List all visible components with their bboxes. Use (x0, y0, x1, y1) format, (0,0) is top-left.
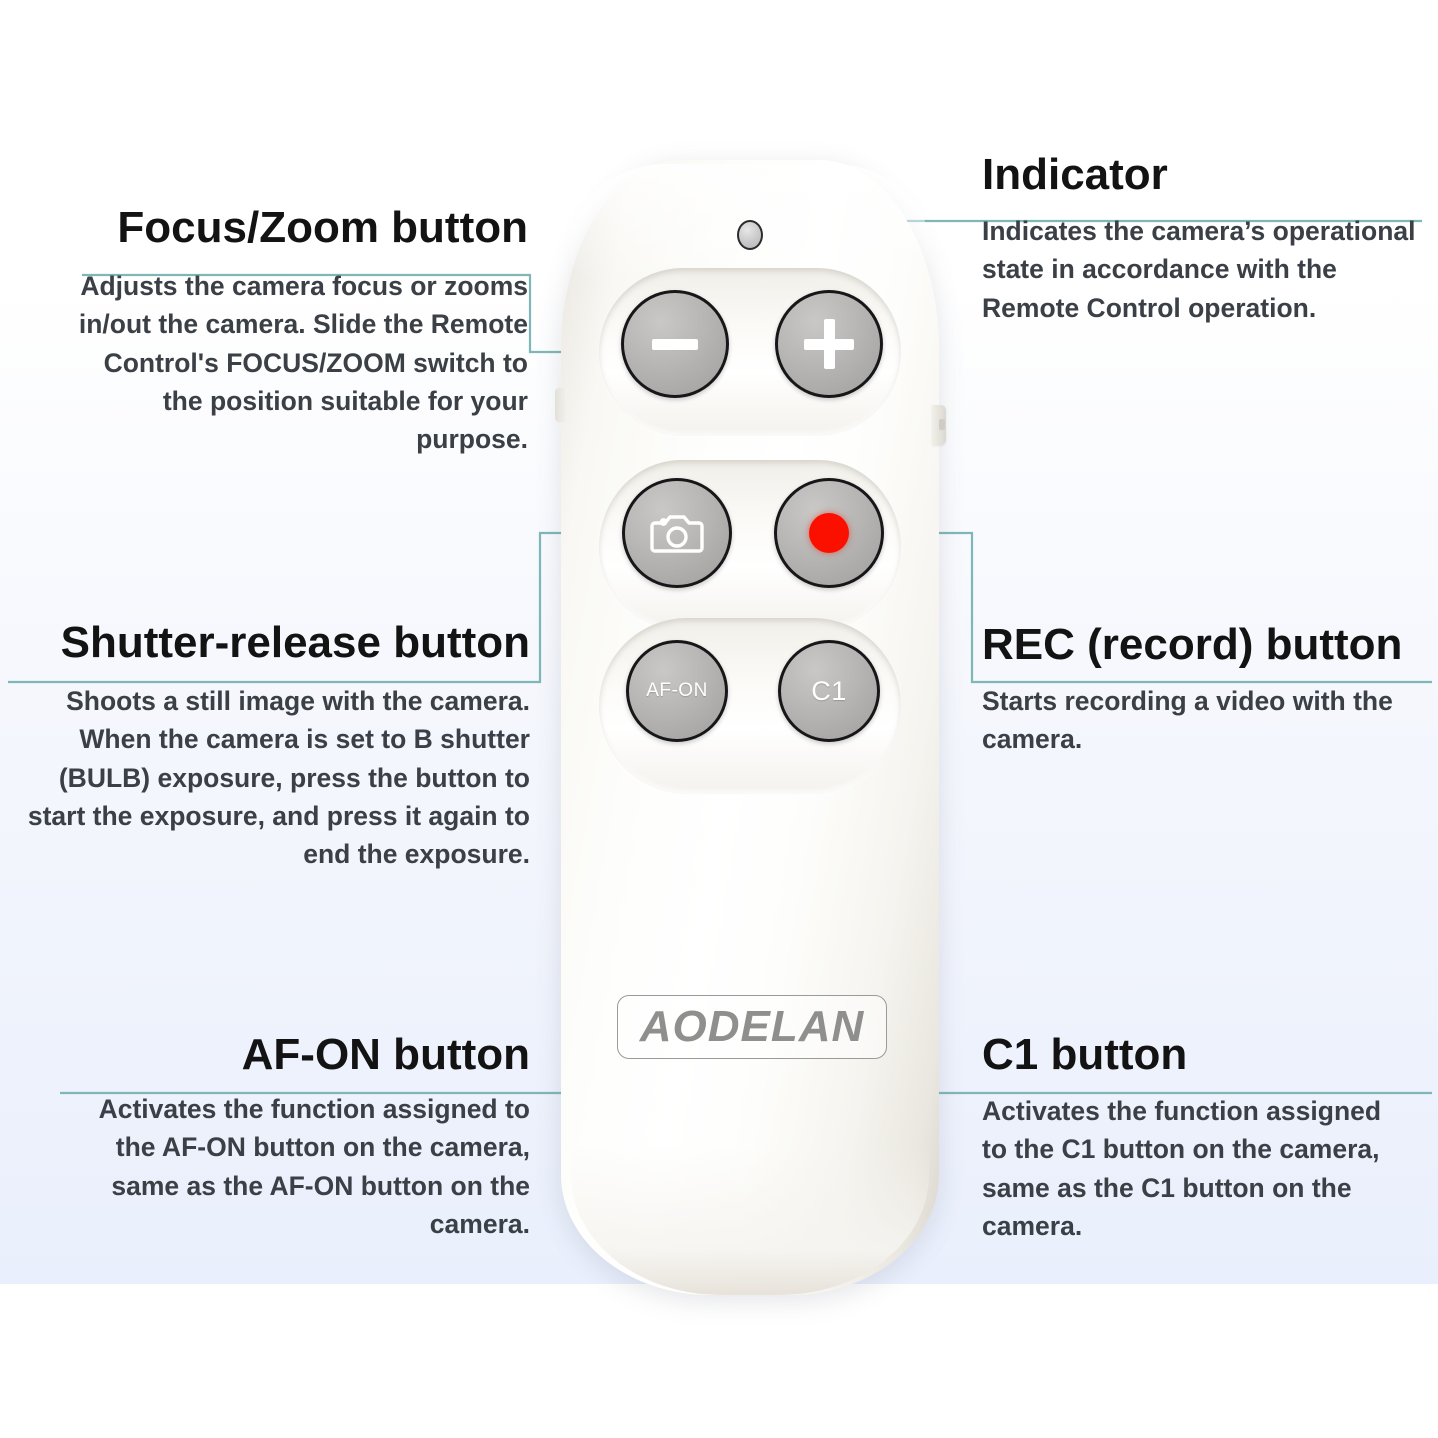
callout-shutter-release-body: Shoots a still image with the camera. Wh… (6, 682, 530, 873)
focus-zoom-plus-button[interactable] (775, 290, 883, 398)
callout-c1-heading: C1 button (982, 1032, 1382, 1078)
callout-c1: C1 button Activates the function assigne… (982, 1032, 1382, 1245)
callout-rec: REC (record) button Starts recording a v… (982, 622, 1438, 759)
callout-af-on-body: Activates the function assigned to the A… (58, 1090, 530, 1243)
callout-shutter-release-heading: Shutter-release button (6, 620, 530, 666)
focus-zoom-minus-button[interactable] (621, 290, 729, 398)
remote-control-device: AF-ON C1 AODELAN (561, 160, 939, 1295)
c1-button-label: C1 (811, 676, 847, 707)
rec-record-button[interactable] (774, 478, 884, 588)
callout-rec-body: Starts recording a video with the camera… (982, 682, 1438, 758)
side-tab-left[interactable] (555, 388, 567, 422)
callout-indicator-heading: Indicator (982, 152, 1422, 198)
callout-rec-heading: REC (record) button (982, 622, 1438, 668)
callout-shutter-release: Shutter-release button Shoots a still im… (6, 620, 530, 873)
shutter-release-button[interactable] (622, 478, 732, 588)
callout-c1-body: Activates the function assigned to the C… (982, 1092, 1382, 1245)
minus-icon (652, 339, 698, 350)
camera-icon (649, 509, 705, 557)
plus-icon (804, 319, 854, 369)
side-tab-right[interactable] (932, 405, 946, 445)
callout-focus-zoom-body: Adjusts the camera focus or zooms in/out… (64, 267, 528, 458)
callout-indicator: Indicator Indicates the camera’s operati… (982, 152, 1422, 327)
callout-af-on-heading: AF-ON button (58, 1032, 530, 1078)
af-on-button-label: AF-ON (646, 680, 708, 702)
af-on-button[interactable]: AF-ON (626, 640, 728, 742)
callout-af-on: AF-ON button Activates the function assi… (58, 1032, 530, 1243)
record-dot-icon (809, 513, 849, 553)
infographic-canvas: AF-ON C1 AODELAN Focus/Zoom button Adjus… (0, 0, 1438, 1438)
c1-button[interactable]: C1 (778, 640, 880, 742)
brand-logo-text: AODELAN (640, 1002, 865, 1052)
callout-focus-zoom: Focus/Zoom button Adjusts the camera foc… (64, 205, 528, 458)
brand-plate: AODELAN (617, 995, 887, 1059)
callout-indicator-body: Indicates the camera’s operational state… (982, 212, 1422, 326)
callout-focus-zoom-heading: Focus/Zoom button (64, 205, 528, 251)
indicator-led (737, 220, 763, 250)
